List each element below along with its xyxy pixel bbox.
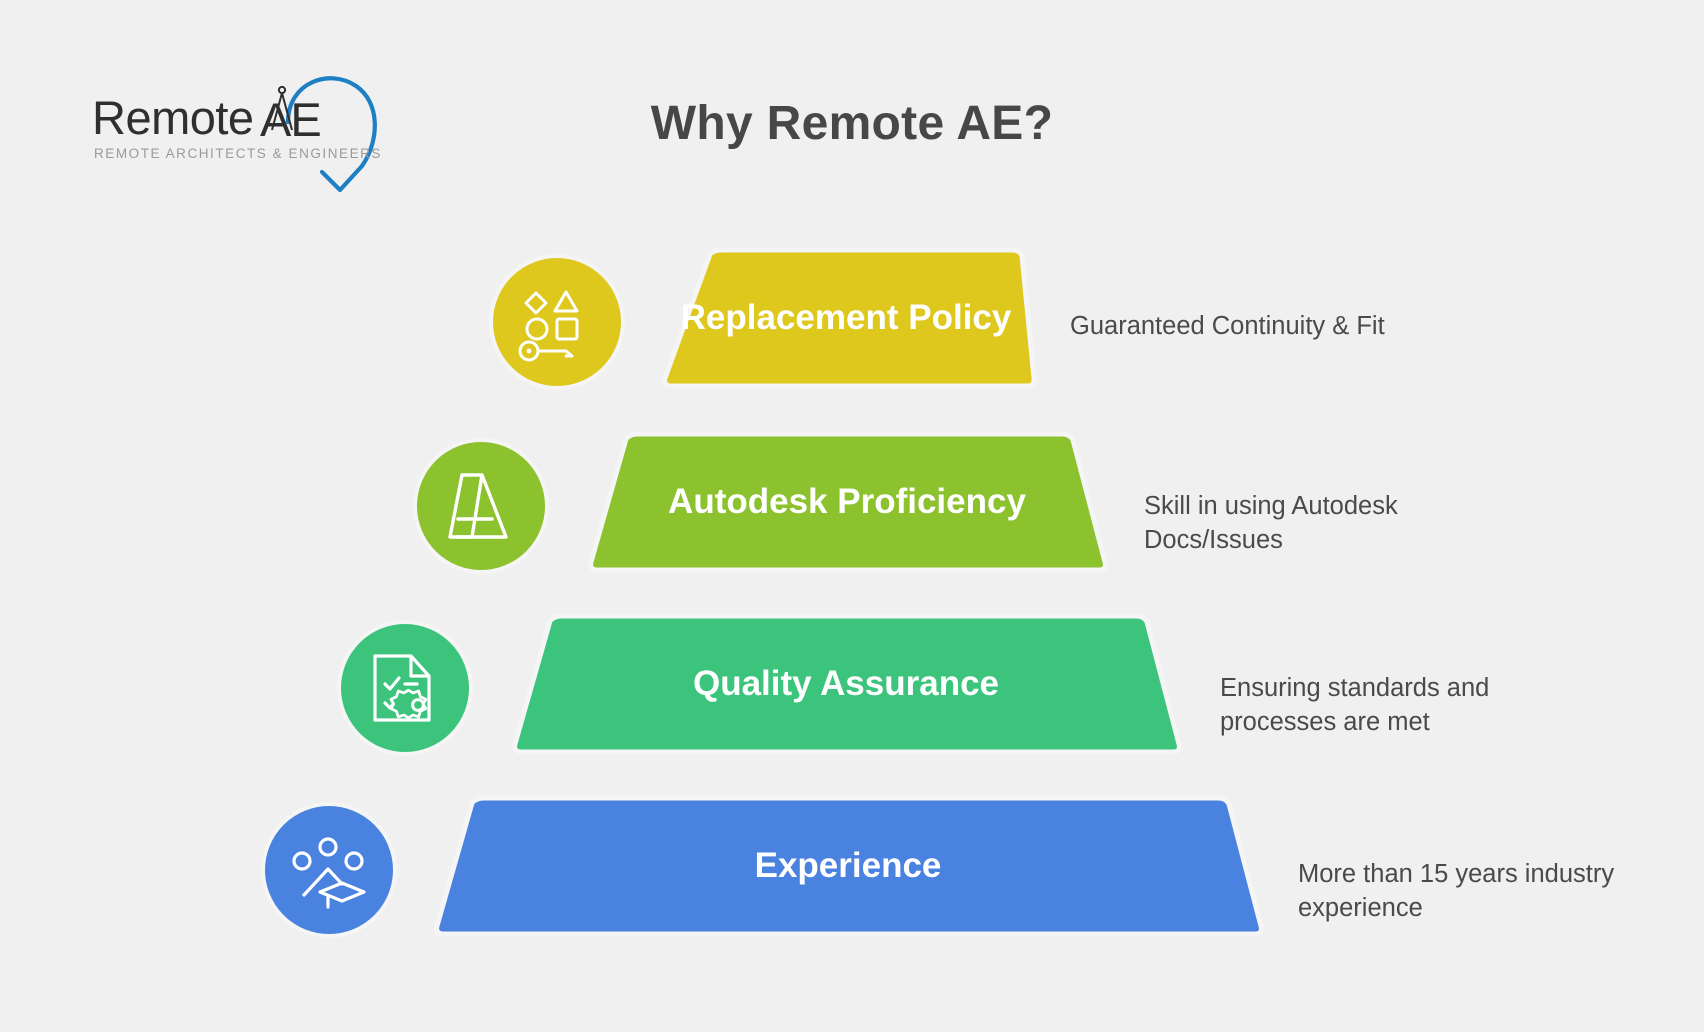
pyramid-band-quality-assurance [508, 614, 1188, 754]
pyramid-description-text: Skill in using Autodesk Docs/Issues [1144, 492, 1398, 554]
pyramid-band-autodesk-proficiency [584, 432, 1114, 572]
pyramid-band-experience [430, 796, 1270, 936]
key-shapes-icon [514, 279, 600, 365]
page-title: Why Remote AE? [0, 96, 1704, 151]
icon-circle-quality-assurance [337, 620, 473, 756]
pyramid-description-text: Guaranteed Continuity & Fit [1070, 312, 1385, 340]
document-check-gear-icon [361, 644, 449, 732]
pyramid-description-experience: More than 15 years industry experience [1298, 858, 1628, 925]
pyramid-description-text: More than 15 years industry experience [1298, 860, 1614, 922]
pyramid-description-quality-assurance: Ensuring standards and processes are met [1220, 672, 1550, 739]
infographic-canvas: Remote AE REMOTE ARCHITECTS & ENGINEERS … [0, 0, 1704, 1032]
pyramid-description-replacement-policy: Guaranteed Continuity & Fit [1070, 310, 1400, 344]
pyramid-description-autodesk-proficiency: Skill in using Autodesk Docs/Issues [1144, 490, 1474, 557]
pyramid-description-text: Ensuring standards and processes are met [1220, 674, 1489, 736]
autodesk-a-icon [436, 461, 526, 551]
icon-circle-replacement-policy [489, 254, 625, 390]
icon-circle-autodesk-proficiency [413, 438, 549, 574]
people-graduation-icon [284, 825, 374, 915]
icon-circle-experience [261, 802, 397, 938]
pyramid-band-replacement-policy [658, 248, 1038, 388]
